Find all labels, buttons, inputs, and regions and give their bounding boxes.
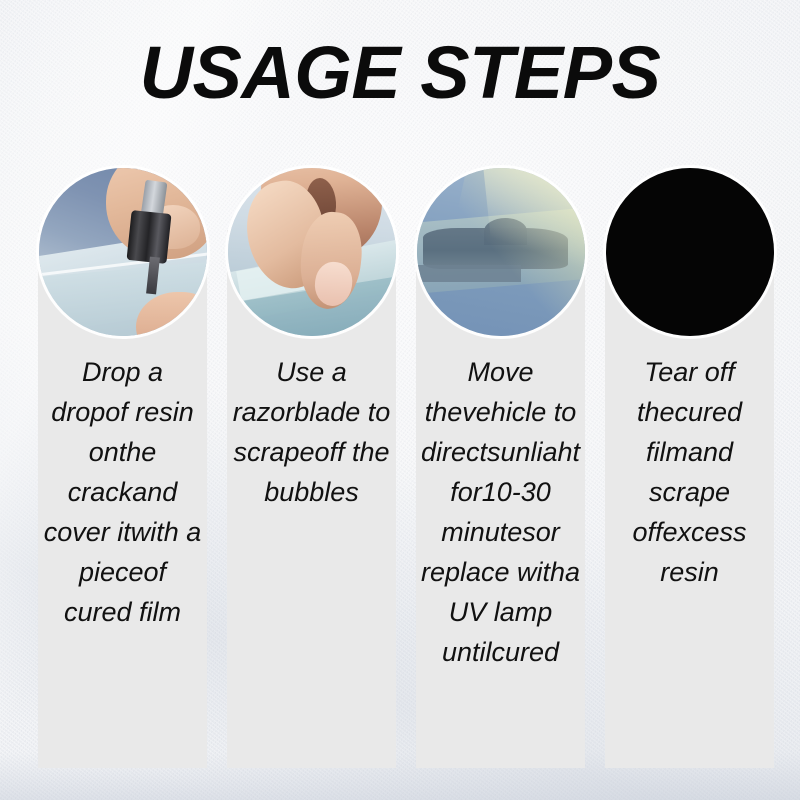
- steps-row: Drop a dropof resin onthe crackand cover…: [38, 168, 774, 768]
- missing-image-placeholder: [606, 168, 774, 336]
- step-caption-1: Drop a dropof resin onthe crackand cover…: [43, 352, 203, 632]
- step-card-1: Drop a dropof resin onthe crackand cover…: [38, 168, 207, 768]
- step-card-3: Move thevehicle to directsunliaht for10-…: [416, 168, 585, 768]
- step-caption-4: Tear off thecured filmand scrape offexce…: [610, 352, 770, 592]
- step-caption-3: Move thevehicle to directsunliaht for10-…: [421, 352, 581, 672]
- sunlight-windshield-photo: [417, 168, 585, 336]
- page-title-container: USAGE STEPS: [0, 36, 800, 110]
- pinching-film-photo: [228, 168, 396, 336]
- step-card-4: Tear off thecured filmand scrape offexce…: [605, 168, 774, 768]
- page-title: USAGE STEPS: [140, 36, 661, 110]
- step-image-4: [606, 168, 774, 336]
- step-caption-2: Use a razorblade to scrapeoff the bubble…: [232, 352, 392, 512]
- step-image-2: [228, 168, 396, 336]
- resin-applicator-photo: [39, 168, 207, 336]
- sun-ray-secondary: [481, 168, 584, 324]
- usage-steps-infographic: USAGE STEPS Drop a dropof resin onthe: [0, 0, 800, 800]
- step-card-2: Use a razorblade to scrapeoff the bubble…: [227, 168, 396, 768]
- step-image-3: [417, 168, 585, 336]
- step-image-1: [39, 168, 207, 336]
